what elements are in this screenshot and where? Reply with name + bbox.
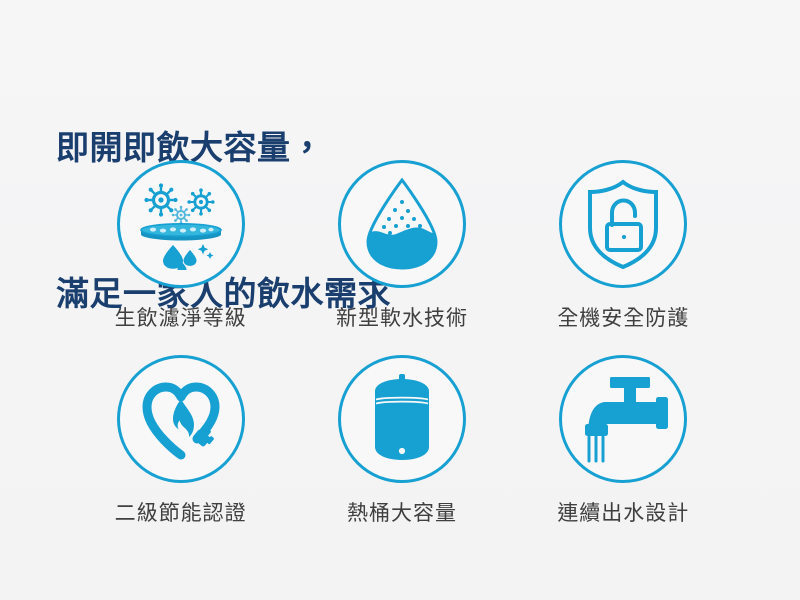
feature-item-energy-certification: 二級節能認證 bbox=[70, 355, 291, 550]
faucet-running-water-icon bbox=[576, 375, 670, 463]
feature-item-tank-capacity: 熱桶大容量 bbox=[291, 355, 512, 550]
feature-label: 二級節能認證 bbox=[115, 497, 247, 527]
feature-label: 全機安全防護 bbox=[557, 302, 689, 332]
icon-circle-safety-protection bbox=[559, 160, 687, 288]
feature-label: 熱桶大容量 bbox=[347, 497, 457, 527]
feature-grid: 生飲濾淨等級 bbox=[70, 160, 734, 550]
feature-item-soft-water: 新型軟水技術 bbox=[291, 160, 512, 355]
feature-label: 新型軟水技術 bbox=[336, 302, 468, 332]
feature-label: 生飲濾淨等級 bbox=[115, 302, 247, 332]
shield-padlock-icon bbox=[579, 178, 667, 270]
hot-water-tank-icon bbox=[369, 374, 435, 464]
water-droplet-minerals-icon bbox=[360, 178, 444, 270]
icon-circle-energy-certification bbox=[117, 355, 245, 483]
feature-label: 連續出水設計 bbox=[557, 497, 689, 527]
icon-circle-continuous-flow bbox=[559, 355, 687, 483]
icon-circle-tank-capacity bbox=[338, 355, 466, 483]
feature-item-drinking-filtration: 生飲濾淨等級 bbox=[70, 160, 291, 355]
icon-circle-soft-water bbox=[338, 160, 466, 288]
icon-circle-drinking-filtration bbox=[117, 160, 245, 288]
feature-item-continuous-flow: 連續出水設計 bbox=[513, 355, 734, 550]
filter-membrane-germs-droplets-icon bbox=[135, 178, 227, 270]
heart-power-cable-flame-icon bbox=[135, 375, 227, 463]
feature-slide: 即開即飲大容量， 滿足一家人的飲水需求 bbox=[0, 0, 800, 600]
feature-item-safety-protection: 全機安全防護 bbox=[513, 160, 734, 355]
